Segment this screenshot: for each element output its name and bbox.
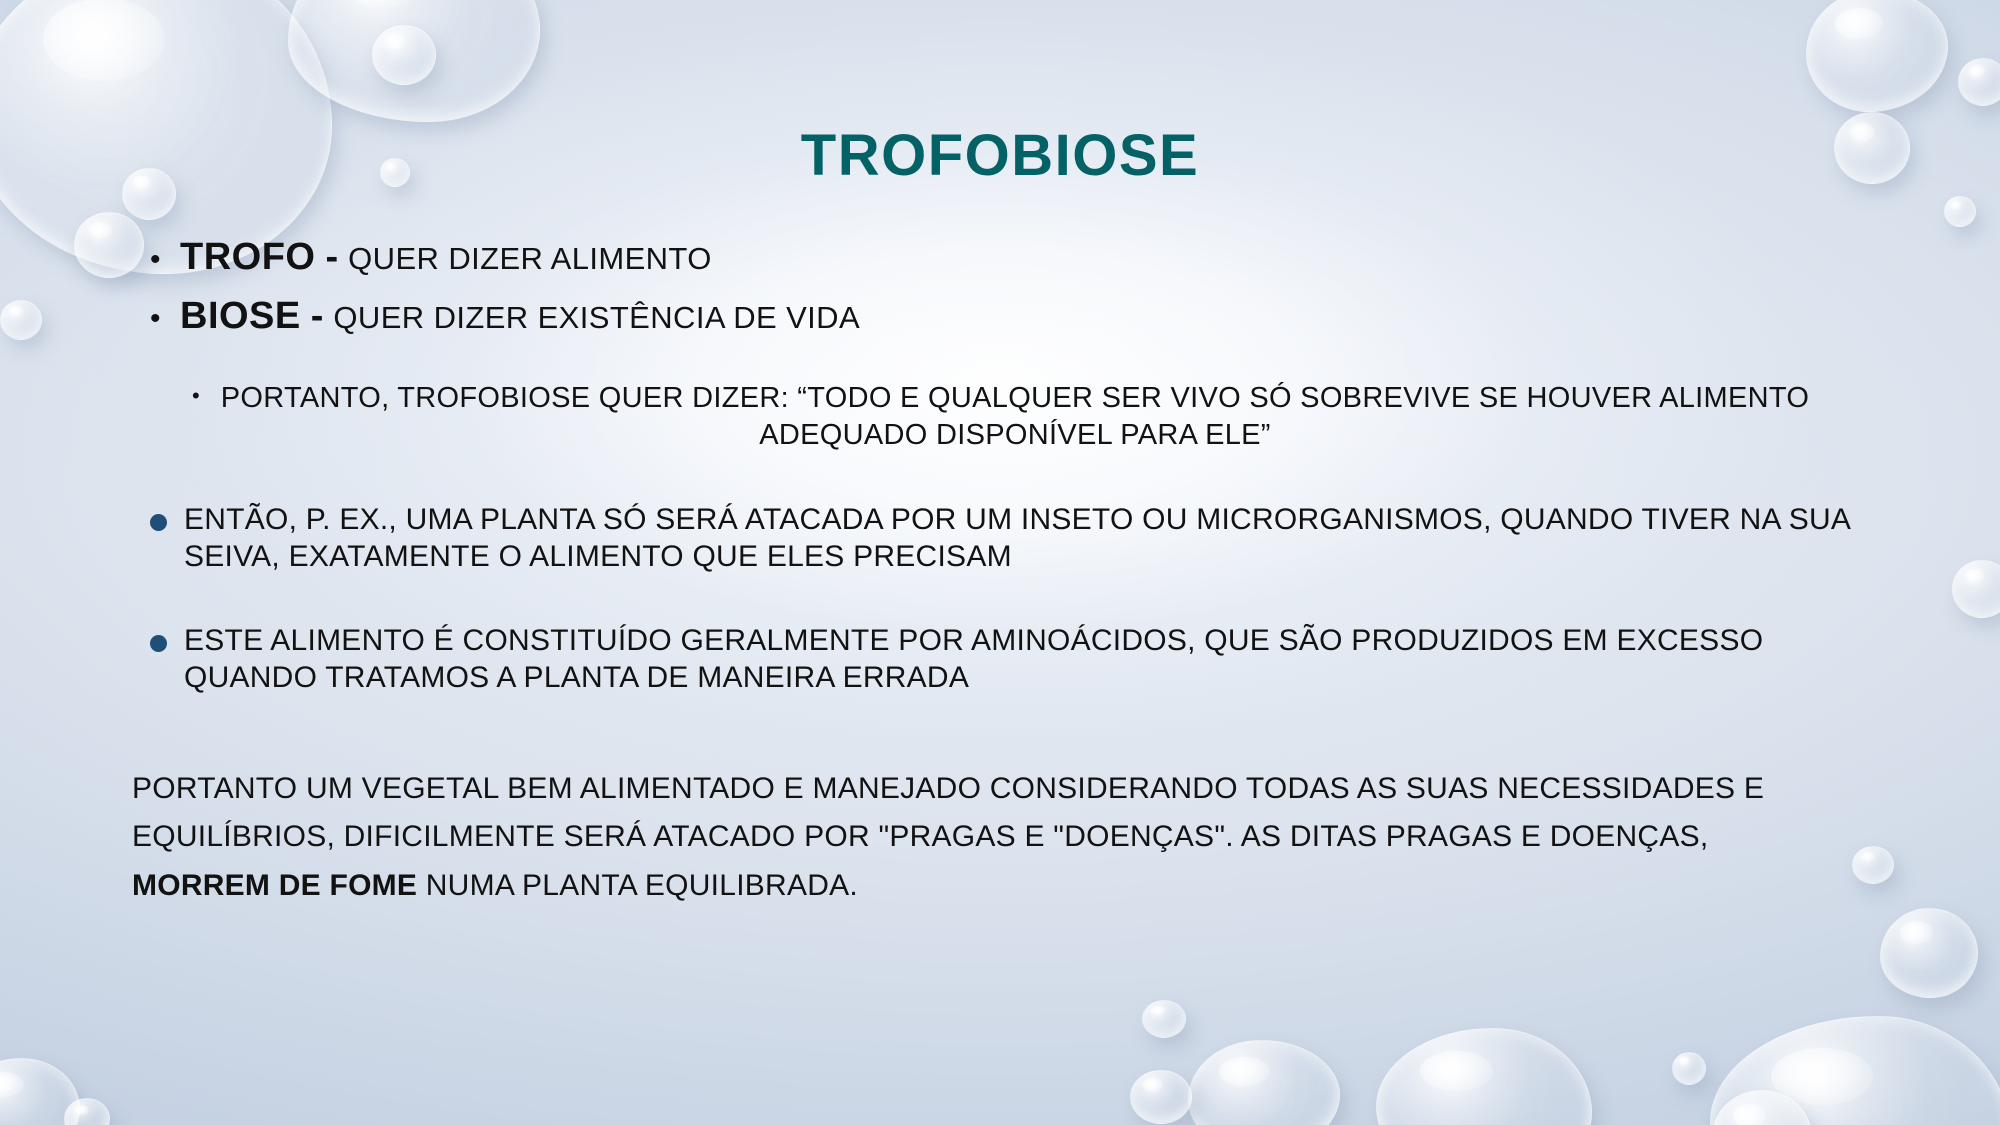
definition-term: BIOSE bbox=[180, 295, 301, 338]
bullet-glyph-icon: • bbox=[150, 245, 180, 275]
point-text: ENTÃO, P. EX., UMA PLANTA SÓ SERÁ ATACAD… bbox=[184, 502, 1882, 575]
sub-bullet-item: • PORTANTO, TROFOBIOSE QUER DIZER: “TODO… bbox=[192, 380, 1882, 454]
point-item: ENTÃO, P. EX., UMA PLANTA SÓ SERÁ ATACAD… bbox=[150, 502, 1882, 575]
sub-bullet-text: PORTANTO, TROFOBIOSE QUER DIZER: “TODO E… bbox=[218, 380, 1812, 454]
closing-part-2: NUMA PLANTA EQUILIBRADA. bbox=[417, 869, 858, 902]
definition-item-trofo: • TROFO - QUER DIZER ALIMENTO bbox=[150, 236, 1882, 279]
point-text: ESTE ALIMENTO É CONSTITUÍDO GERALMENTE P… bbox=[184, 623, 1882, 696]
closing-emphasis: MORREM DE FOME bbox=[132, 869, 417, 902]
definition-item-biose: • BIOSE - QUER DIZER EXISTÊNCIA DE VIDA bbox=[150, 295, 1882, 338]
definition-separator: - bbox=[315, 236, 348, 279]
definition-separator: - bbox=[301, 295, 334, 338]
round-bullet-icon bbox=[150, 623, 184, 652]
presentation-slide: TROFOBIOSE • TROFO - QUER DIZER ALIMENTO… bbox=[0, 0, 2000, 1125]
definition-meaning: QUER DIZER ALIMENTO bbox=[348, 241, 712, 277]
definition-meaning: QUER DIZER EXISTÊNCIA DE VIDA bbox=[333, 300, 860, 336]
closing-paragraph: PORTANTO UM VEGETAL BEM ALIMENTADO E MAN… bbox=[132, 765, 1822, 911]
bullet-glyph-icon: • bbox=[192, 380, 218, 412]
point-item: ESTE ALIMENTO É CONSTITUÍDO GERALMENTE P… bbox=[150, 623, 1882, 696]
round-bullet-icon bbox=[150, 502, 184, 531]
slide-body: • TROFO - QUER DIZER ALIMENTO • BIOSE - … bbox=[150, 236, 1882, 910]
definition-term: TROFO bbox=[180, 236, 315, 279]
bullet-glyph-icon: • bbox=[150, 304, 180, 334]
closing-part-1: PORTANTO UM VEGETAL BEM ALIMENTADO E MAN… bbox=[132, 772, 1764, 854]
slide-title: TROFOBIOSE bbox=[0, 122, 2000, 189]
